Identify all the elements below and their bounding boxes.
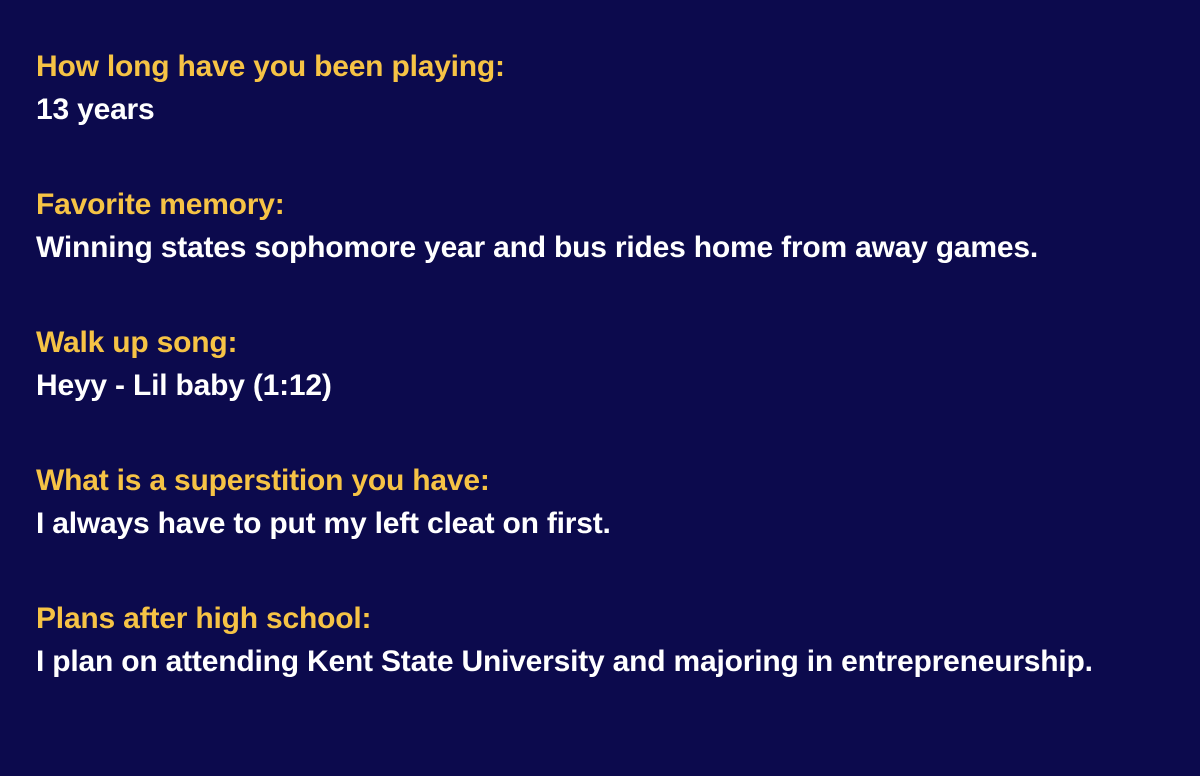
player-profile-card: How long have you been playing: 13 years… [0,0,1200,776]
question-label-plans-after-high-school: Plans after high school: [36,598,1160,639]
answer-text-playing-duration: 13 years [36,89,1146,132]
answer-text-favorite-memory: Winning states sophomore year and bus ri… [36,227,1146,270]
answer-text-walk-up-song: Heyy - Lil baby (1:12) [36,365,1146,408]
qa-block-superstition: What is a superstition you have: I alway… [36,460,1160,546]
qa-block-playing-duration: How long have you been playing: 13 years [36,46,1160,132]
question-label-favorite-memory: Favorite memory: [36,184,1160,225]
qa-block-favorite-memory: Favorite memory: Winning states sophomor… [36,184,1160,270]
qa-block-plans-after-high-school: Plans after high school: I plan on atten… [36,598,1160,684]
question-label-walk-up-song: Walk up song: [36,322,1160,363]
question-answer-list: How long have you been playing: 13 years… [36,46,1160,684]
qa-block-walk-up-song: Walk up song: Heyy - Lil baby (1:12) [36,322,1160,408]
answer-text-superstition: I always have to put my left cleat on fi… [36,503,1146,546]
question-label-superstition: What is a superstition you have: [36,460,1160,501]
answer-text-plans-after-high-school: I plan on attending Kent State Universit… [36,641,1146,684]
question-label-playing-duration: How long have you been playing: [36,46,1160,87]
